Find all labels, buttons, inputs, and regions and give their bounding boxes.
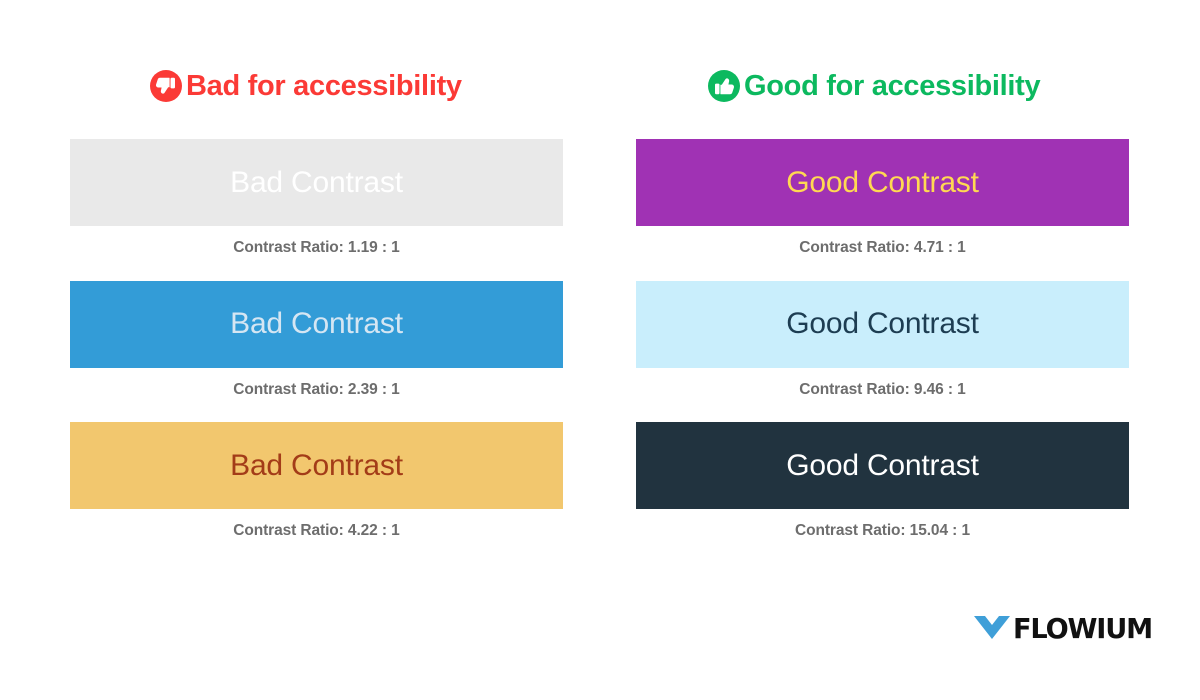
color-swatch: Bad Contrast xyxy=(70,422,563,509)
swatch-column-good: Good Contrast Contrast Ratio: 4.71 : 1 G… xyxy=(636,139,1129,555)
color-swatch: Good Contrast xyxy=(636,281,1129,368)
contrast-ratio-label: Contrast Ratio: 2.39 : 1 xyxy=(70,368,563,414)
flowium-wordmark: FLOWIUM xyxy=(1013,615,1152,643)
swatch-label: Good Contrast xyxy=(786,309,979,339)
contrast-ratio-label: Contrast Ratio: 1.19 : 1 xyxy=(70,226,563,272)
column-header-good: Good for accessibility xyxy=(708,66,1040,106)
swatch-block: Bad Contrast Contrast Ratio: 1.19 : 1 xyxy=(70,139,563,272)
color-swatch: Bad Contrast xyxy=(70,139,563,226)
swatch-column-bad: Bad Contrast Contrast Ratio: 1.19 : 1 Ba… xyxy=(70,139,563,555)
color-swatch: Good Contrast xyxy=(636,422,1129,509)
thumbs-up-icon xyxy=(708,70,740,102)
swatch-block: Bad Contrast Contrast Ratio: 2.39 : 1 xyxy=(70,281,563,414)
contrast-ratio-label: Contrast Ratio: 9.46 : 1 xyxy=(636,368,1129,414)
flowium-logo: FLOWIUM xyxy=(972,611,1156,646)
swatch-block: Good Contrast Contrast Ratio: 15.04 : 1 xyxy=(636,422,1129,555)
swatch-block: Good Contrast Contrast Ratio: 4.71 : 1 xyxy=(636,139,1129,272)
contrast-ratio-label: Contrast Ratio: 4.71 : 1 xyxy=(636,226,1129,272)
contrast-ratio-label: Contrast Ratio: 15.04 : 1 xyxy=(636,509,1129,555)
swatch-label: Bad Contrast xyxy=(230,168,403,198)
flowium-triangle-mark-icon xyxy=(972,611,1012,646)
contrast-ratio-label: Contrast Ratio: 4.22 : 1 xyxy=(70,509,563,555)
color-swatch: Good Contrast xyxy=(636,139,1129,226)
swatch-block: Bad Contrast Contrast Ratio: 4.22 : 1 xyxy=(70,422,563,555)
thumbs-down-icon xyxy=(150,70,182,102)
swatch-label: Bad Contrast xyxy=(230,309,403,339)
column-title-bad: Bad for accessibility xyxy=(186,72,462,101)
column-header-bad: Bad for accessibility xyxy=(150,66,462,106)
column-title-good: Good for accessibility xyxy=(744,72,1040,101)
swatch-label: Bad Contrast xyxy=(230,451,403,481)
swatch-block: Good Contrast Contrast Ratio: 9.46 : 1 xyxy=(636,281,1129,414)
color-swatch: Bad Contrast xyxy=(70,281,563,368)
swatch-label: Good Contrast xyxy=(786,168,979,198)
swatch-label: Good Contrast xyxy=(786,451,979,481)
accessibility-contrast-board: Bad for accessibility Good for accessibi… xyxy=(0,0,1200,700)
